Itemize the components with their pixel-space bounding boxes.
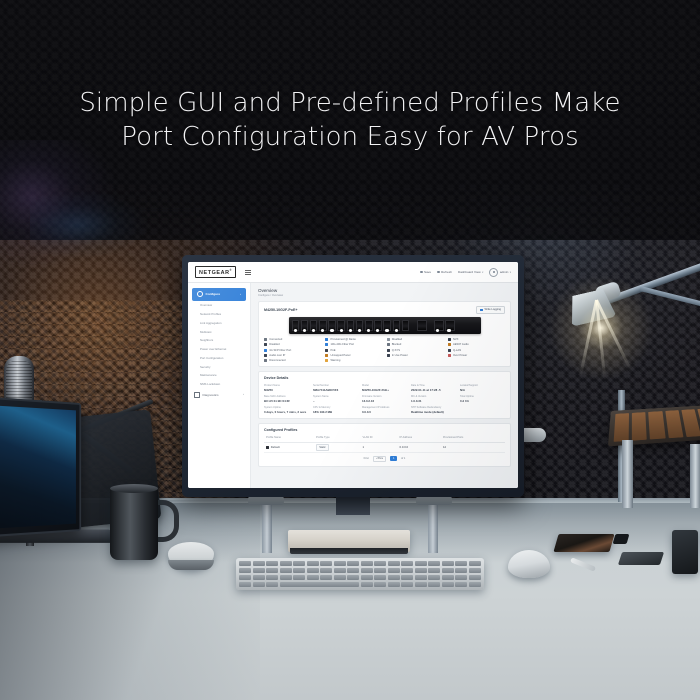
monitor-foot-right: [416, 496, 452, 505]
detail-label: CPU & Memory: [313, 406, 358, 409]
profiles-table-head: Profile Name Profile Type VLAN ID IP Add…: [264, 434, 505, 442]
device-card: M4250-10G2F-PoE+ Write Logging: [258, 301, 511, 367]
legend-item: In Use Power: [387, 354, 444, 357]
detail-value: BC:A5:11:9C:04:3F: [264, 399, 309, 403]
notebook: [553, 534, 614, 552]
banner-stage: NETGEAR® Save Refresh Dashboard View▾ ad…: [0, 0, 700, 700]
keyboard-row: [239, 561, 481, 566]
switch-port[interactable]: [301, 320, 309, 331]
sidebar-item-maintenance[interactable]: Maintenance: [188, 371, 250, 380]
legend-label: Audio over IP: [269, 354, 285, 357]
netgear-logo: NETGEAR®: [195, 266, 236, 278]
detail-field: Base MAC AddressBC:A5:11:9C:04:3F: [264, 395, 309, 403]
headline-banner: Simple GUI and Pre-defined Profiles Make…: [0, 0, 700, 240]
detail-label: NTP Software Redundancy: [411, 406, 456, 409]
detail-value: 1.0.0.31: [411, 399, 456, 403]
detail-value: 18% 190.2 MB: [313, 410, 358, 414]
mixer-channel: [614, 413, 629, 442]
mixer-channel: [665, 410, 683, 438]
diagnostics-icon: [194, 392, 200, 398]
laptop-screen-image: [0, 405, 76, 528]
warning-icon: [325, 359, 328, 362]
table-row[interactable]: Default Static 1 0.0.0.0 12: [264, 442, 505, 452]
switch-front-panel-wrap: [264, 317, 505, 334]
nvx-icon: [448, 338, 451, 341]
smartphone: [618, 552, 664, 565]
smart-speaker-base: [168, 560, 214, 570]
pager-prev[interactable]: ‹ Prev: [373, 456, 387, 463]
aes67-icon: [448, 343, 451, 346]
earbuds-case: [613, 534, 630, 544]
detail-label: Total Uptime: [460, 395, 505, 398]
chevron-right-icon: ›: [240, 293, 241, 296]
qsys-icon: [387, 349, 390, 352]
switch-port[interactable]: [356, 320, 364, 331]
legend-item: PoE: [325, 349, 382, 352]
disabled2-icon: [264, 343, 267, 346]
legend-item: Q-SYS: [387, 349, 444, 352]
detail-field: ModelM4250-10G2F-PoE+: [362, 384, 407, 392]
switch-port[interactable]: [374, 320, 382, 331]
write-logging-label: Write Logging: [484, 308, 501, 311]
refresh-icon: [437, 271, 440, 274]
switch-console-port[interactable]: [417, 320, 427, 331]
computer-monitor: NETGEAR® Save Refresh Dashboard View▾ ad…: [182, 255, 524, 497]
netgear-switch-gui: NETGEAR® Save Refresh Dashboard View▾ ad…: [188, 262, 518, 488]
detail-label: System Name: [313, 395, 358, 398]
monitor-riser-base: [290, 548, 408, 554]
power-icon: [387, 354, 390, 357]
top-link-label: Dashboard View: [458, 270, 481, 274]
detail-field: System Uptime0 days, 0 hours, 7 mins, 3 …: [264, 406, 309, 414]
row-checkbox[interactable]: [266, 446, 269, 449]
detail-field: NTP Software RedundancyRealtime mode (de…: [411, 406, 456, 414]
detail-value: M4250: [264, 388, 309, 392]
detail-field: CPU & Memory18% 190.2 MB: [313, 406, 358, 414]
legend-label: 10G-40G Fiber Port: [330, 343, 354, 346]
discon-icon: [264, 359, 267, 362]
profile-type-tag: Static: [316, 444, 329, 451]
aoip-icon: [264, 354, 267, 357]
cell-ip-address: 0.0.0.0: [398, 442, 441, 452]
legend-label: Q-SYS: [392, 349, 400, 352]
chevron-down-icon: ▾: [510, 271, 511, 274]
cell-vlan-id: 1: [360, 442, 397, 452]
switch-port[interactable]: [310, 320, 318, 331]
sidebar-item-nms-lockdown[interactable]: NMS Lockdown: [188, 380, 250, 389]
sidebar-item-overview[interactable]: Overview: [188, 301, 250, 310]
detail-label: Serial Number: [313, 384, 358, 387]
device-model-title: M4250-10G2F-PoE+: [264, 308, 297, 312]
poe-icon: [325, 349, 328, 352]
switch-port[interactable]: [337, 320, 345, 331]
pager-current-page[interactable]: 1: [390, 456, 397, 461]
col-vlan-id: VLAN ID: [360, 434, 397, 442]
legend-label: Q-LAN: [453, 349, 461, 352]
switch-front-panel[interactable]: [289, 317, 481, 334]
mouse: [508, 550, 550, 578]
device-card-header: M4250-10G2F-PoE+ Write Logging: [264, 306, 505, 314]
keyboard-row: [239, 568, 481, 573]
mixer-stand-left: [622, 440, 633, 508]
uncapped-icon: [325, 354, 328, 357]
legend-item: Warning: [325, 359, 382, 362]
col-profile-type: Profile Type: [314, 434, 360, 442]
legend-label: AES67 Audio: [453, 343, 469, 346]
sidebar-item-label: Diagnostics: [203, 393, 219, 397]
pager-first[interactable]: First: [364, 457, 369, 460]
detail-value: 6MA7411AB0C5F3: [313, 388, 358, 392]
switch-port[interactable]: [292, 320, 300, 331]
connected-icon: [264, 338, 267, 341]
keyboard-row: [239, 575, 481, 580]
gui-body: Configure › Overview Network Profiles Li…: [188, 283, 518, 488]
top-link-label: Refresh: [441, 270, 452, 274]
detail-field: Serial Number6MA7411AB0C5F3: [313, 384, 358, 392]
detail-field: Firmware Version13.0.2.16: [362, 395, 407, 403]
table-header-row: Profile Name Profile Type VLAN ID IP Add…: [264, 434, 505, 442]
detail-value: M4250-10G2F-PoE+: [362, 388, 407, 392]
hamburger-icon[interactable]: [245, 270, 251, 275]
switch-port[interactable]: [365, 320, 373, 331]
account-label: admin: [500, 270, 508, 274]
sfp-icon: [264, 349, 267, 352]
chevron-right-icon: ›: [243, 393, 244, 396]
qlan-icon: [448, 349, 451, 352]
legend-item: 10G-40G Fiber Port: [325, 343, 382, 346]
chevron-down-icon: ▾: [482, 271, 483, 274]
switch-port[interactable]: [402, 320, 410, 331]
laptop: [0, 397, 81, 538]
registered-mark: ®: [230, 269, 232, 272]
legend-item: Q-LAN: [448, 349, 505, 352]
main-content: Overview Configure / Overview M4250-10G2…: [251, 283, 518, 488]
cell-profile-name: Default: [264, 442, 314, 452]
sidebar-item-label: Configure: [206, 292, 221, 296]
legend-label: Disconnected: [269, 359, 285, 362]
col-profile-name: Profile Name: [264, 434, 314, 442]
detail-label: Model: [362, 384, 407, 387]
cell-profile-type: Static: [314, 442, 360, 452]
legend-label: Disabled: [392, 338, 402, 341]
fiber-icon: [325, 343, 328, 346]
legend-item: Uncapped Panel: [325, 354, 382, 357]
legend-label: PoE: [330, 349, 335, 352]
blue-light-wisp: [30, 190, 150, 260]
legend-item: Provisioned @ Dante: [325, 338, 382, 341]
breadcrumb: Configure / Overview: [258, 294, 511, 297]
monitor-screen: NETGEAR® Save Refresh Dashboard View▾ ad…: [188, 262, 518, 488]
sidebar-item-link-aggregation[interactable]: Link Aggregation: [188, 318, 250, 327]
legend-label: Connected: [269, 338, 282, 341]
page-title: Overview: [258, 288, 511, 293]
legend-item: Audio over IP: [264, 354, 321, 357]
gui-top-actions: Save Refresh Dashboard View▾ admin ▾: [420, 268, 511, 277]
detail-field: [460, 406, 505, 414]
sidebar-item-multicast[interactable]: Multicast: [188, 327, 250, 336]
profile-name-text: Default: [271, 445, 280, 449]
profiles-table-body: Default Static 1 0.0.0.0 12: [264, 442, 505, 452]
monitor-foot-left: [248, 496, 284, 505]
sidebar-item-diagnostics[interactable]: Diagnostics ›: [188, 389, 250, 401]
detail-field: Date & Time2022-01-11 at 17:28 -5: [411, 384, 456, 392]
keyboard-row: [239, 582, 481, 587]
col-ip-address: IP Address: [398, 434, 441, 442]
switch-port[interactable]: [319, 320, 327, 331]
detail-label: Locator/Support: [460, 384, 505, 387]
monitor-leg-right: [428, 497, 438, 553]
top-link-save[interactable]: Save: [420, 270, 431, 274]
detail-field: Management IP Address0.0.0.0: [362, 406, 407, 414]
account-menu[interactable]: admin ▾: [489, 268, 511, 277]
monitor-leg-left: [262, 497, 272, 553]
save-icon: [420, 271, 423, 274]
legend-item: Connected: [264, 338, 321, 341]
device-details-title: Device Details: [264, 376, 505, 380]
mixer-channel: [632, 412, 647, 441]
gui-top-bar: NETGEAR® Save Refresh Dashboard View▾ ad…: [188, 262, 518, 283]
detail-label: Date & Time: [411, 384, 456, 387]
detail-value: 2022-01-11 at 17:28 -5: [411, 388, 456, 392]
sidebar-item-neighbors[interactable]: Neighbors: [188, 336, 250, 345]
detail-field: Locator/SupportN/A: [460, 384, 505, 392]
disabled-icon: [387, 338, 390, 341]
write-logging-button[interactable]: Write Logging: [476, 306, 505, 314]
brand-text: NETGEAR: [199, 269, 230, 275]
mixer-channel: [649, 411, 666, 439]
top-link-refresh[interactable]: Refresh: [437, 270, 452, 274]
detail-value: 0 d 0 h: [460, 399, 505, 403]
coffee-mug: [110, 486, 158, 560]
switch-port[interactable]: [383, 320, 391, 331]
switch-port[interactable]: [393, 320, 401, 331]
detail-field: System Name–: [313, 395, 358, 403]
switch-sfp-port[interactable]: [434, 320, 444, 331]
detail-value: Realtime mode (default): [411, 410, 456, 414]
detail-label: Firmware Version: [362, 395, 407, 398]
gear-icon: [197, 291, 203, 297]
headline: Simple GUI and Pre-defined Profiles Make…: [79, 86, 620, 155]
legend-label: Disabled: [269, 343, 279, 346]
monitor-neck: [336, 497, 370, 515]
detail-field: Total Uptime0 d 0 h: [460, 395, 505, 403]
sidebar-item-configure[interactable]: Configure ›: [192, 288, 246, 301]
sidebar-item-power-over-ethernet[interactable]: Power over Ethernet: [188, 345, 250, 354]
configured-profiles-title: Configured Profiles: [264, 428, 505, 432]
table-pagination: First ‹ Prev 1 of 1: [264, 456, 505, 463]
detail-value: N/A: [460, 388, 505, 392]
detail-field: Product NameM4250: [264, 384, 309, 392]
legend-item: 1G SFP Fiber Port: [264, 349, 321, 352]
legend-label: NVX: [453, 338, 459, 341]
port-legend: Connected Provisioned @ Dante Disabled N…: [264, 338, 505, 363]
keyboard: [236, 558, 484, 590]
detail-label: Product Name: [264, 384, 309, 387]
legend-label: Provisioned @ Dante: [330, 338, 355, 341]
user-avatar-icon: [489, 268, 498, 277]
detail-label: System Uptime: [264, 406, 309, 409]
device-details-grid: Product NameM4250 Serial Number6MA7411AB…: [264, 384, 505, 414]
detail-label: MC & Version: [411, 395, 456, 398]
configured-profiles-card: Configured Profiles Profile Name Profile…: [258, 423, 511, 467]
legend-item: NVX: [448, 338, 505, 341]
col-provisioned-ports: Provisioned Ports: [441, 434, 505, 442]
legend-item: AES67 Audio: [448, 343, 505, 346]
sidebar-item-security[interactable]: Security: [188, 362, 250, 371]
legend-item: Disconnected: [264, 359, 321, 362]
headline-line-2: Port Configuration Easy for AV Pros: [79, 120, 620, 154]
detail-label: Management IP Address: [362, 406, 407, 409]
cell-provisioned-ports: 12: [441, 442, 505, 452]
sidebar-item-port-configuration[interactable]: Port Configuration: [188, 353, 250, 362]
sidebar-item-network-profiles[interactable]: Network Profiles: [188, 310, 250, 319]
mug-rim: [110, 484, 158, 493]
log-icon: [480, 309, 483, 312]
detail-label: Base MAC Address: [264, 395, 309, 398]
legend-label: Blocked: [392, 343, 402, 346]
switch-sfp-port[interactable]: [445, 320, 455, 331]
mixer-stand-right: [690, 444, 700, 508]
device-details-card: Device Details Product NameM4250 Serial …: [258, 371, 511, 419]
switch-port[interactable]: [328, 320, 336, 331]
profiles-table: Profile Name Profile Type VLAN ID IP Add…: [264, 434, 505, 452]
switch-port[interactable]: [347, 320, 355, 331]
mixer-channel: [681, 409, 700, 437]
blocked-icon: [387, 343, 390, 346]
top-link-dashboard-view[interactable]: Dashboard View▾: [458, 270, 483, 274]
top-link-label: Save: [424, 270, 431, 274]
legend-item: Disabled: [264, 343, 321, 346]
pager-total: of 1: [401, 457, 405, 460]
legend-label: Uncapped Panel: [330, 354, 350, 357]
detail-value: 0.0.0.0: [362, 410, 407, 414]
legend-item: Over Power: [448, 354, 505, 357]
overpower-icon: [448, 354, 451, 357]
legend-label: In Use Power: [392, 354, 408, 357]
headline-line-1: Simple GUI and Pre-defined Profiles Make: [79, 88, 620, 118]
sidebar: Configure › Overview Network Profiles Li…: [188, 283, 251, 488]
legend-label: 1G SFP Fiber Port: [269, 349, 291, 352]
legend-label: Warning: [330, 359, 340, 362]
dante-icon: [325, 338, 328, 341]
legend-label: Over Power: [453, 354, 467, 357]
external-drive: [672, 530, 698, 574]
legend-item: Blocked: [387, 343, 444, 346]
detail-value: 13.0.2.16: [362, 399, 407, 403]
legend-item: Disabled: [387, 338, 444, 341]
detail-value: –: [313, 399, 358, 403]
detail-field: MC & Version1.0.0.31: [411, 395, 456, 403]
detail-value: 0 days, 0 hours, 7 mins, 3 secs: [264, 410, 309, 414]
